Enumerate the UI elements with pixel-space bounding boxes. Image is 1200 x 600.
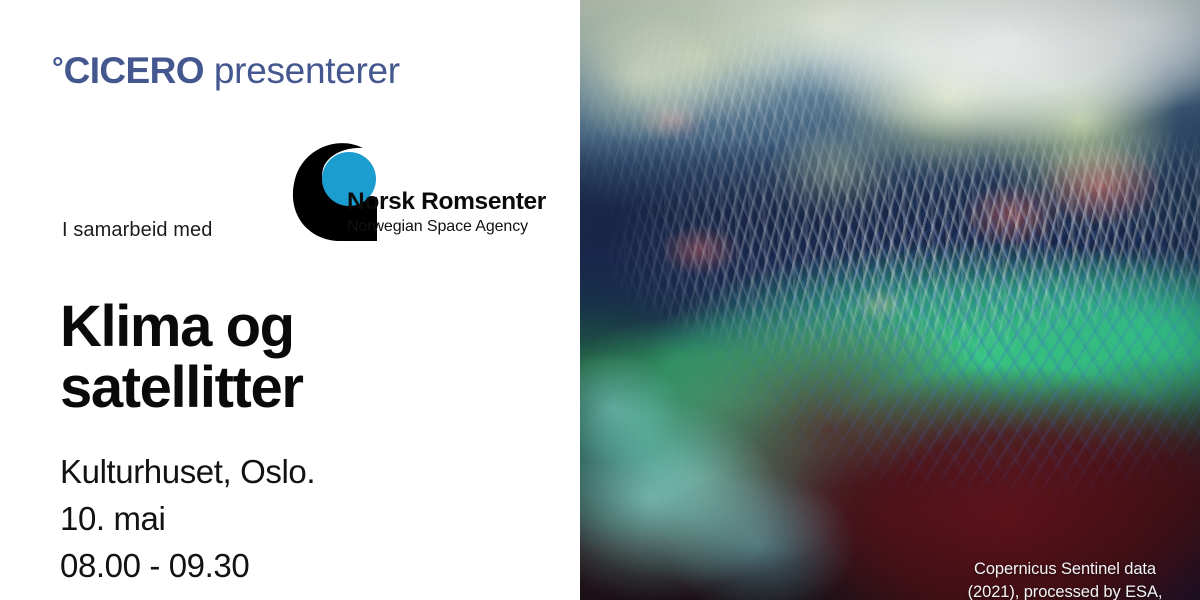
event-details: Kulturhuset, Oslo. 10. mai 08.00 - 09.30 bbox=[60, 449, 315, 590]
event-date: 10. mai bbox=[60, 496, 315, 543]
partner-name: Norsk Romsenter bbox=[347, 190, 546, 215]
satellite-vignette-layer bbox=[580, 0, 1200, 600]
event-time: 08.00 - 09.30 bbox=[60, 543, 315, 590]
degree-symbol-icon: ° bbox=[52, 52, 64, 84]
headline-line-1: Klima og bbox=[60, 296, 303, 357]
event-headline: Klima og satellitter bbox=[60, 296, 303, 419]
partner-logo-wordmark: Norsk Romsenter Norwegian Space Agency bbox=[347, 190, 546, 235]
headline-line-2: satellitter bbox=[60, 357, 303, 418]
satellite-image: Copernicus Sentinel data (2021), process… bbox=[580, 0, 1200, 600]
partner-logo: Norsk Romsenter Norwegian Space Agency bbox=[289, 141, 539, 249]
info-panel: °CICERO presenterer I samarbeid med Nors… bbox=[0, 0, 580, 600]
brand-verb: presenterer bbox=[214, 50, 400, 91]
image-credit: Copernicus Sentinel data (2021), process… bbox=[930, 558, 1200, 600]
event-poster: °CICERO presenterer I samarbeid med Nors… bbox=[0, 0, 1200, 600]
partner-subtitle: Norwegian Space Agency bbox=[347, 219, 546, 235]
collaboration-label: I samarbeid med bbox=[62, 219, 212, 242]
brand-presenter-line: °CICERO presenterer bbox=[52, 50, 400, 92]
event-venue: Kulturhuset, Oslo. bbox=[60, 449, 315, 496]
brand-name: CICERO bbox=[64, 50, 204, 91]
image-credit-line-2: (2021), processed by ESA, bbox=[930, 581, 1200, 600]
image-credit-line-1: Copernicus Sentinel data bbox=[930, 558, 1200, 581]
